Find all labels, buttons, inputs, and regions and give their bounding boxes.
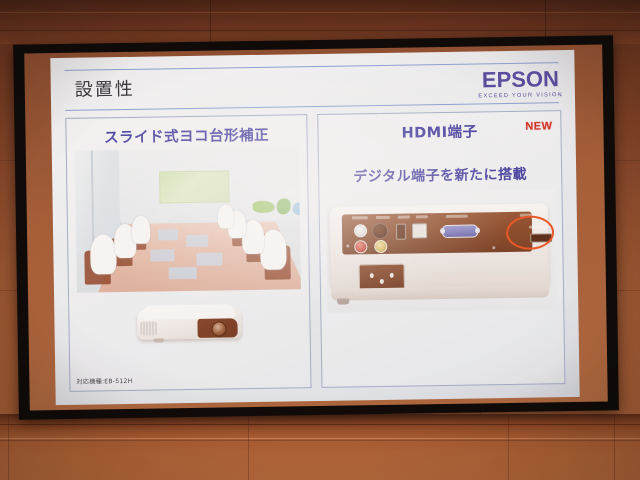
epson-wordmark: EPSON — [478, 68, 563, 91]
panel-hdmi-terminal: HDMI端子 NEW デジタル端子を新たに搭載 — [317, 110, 565, 388]
epson-logo: EPSON EXCEED YOUR VISION — [478, 68, 563, 99]
slide-title: 設置性 — [75, 75, 135, 102]
audio-jack-red — [354, 240, 367, 253]
model-caption: 対応機種:EB-512H — [76, 376, 132, 386]
lan-port — [412, 223, 427, 238]
projected-content-in-photo — [159, 170, 229, 203]
projector-front-product-photo — [131, 298, 248, 348]
new-badge: NEW — [525, 120, 552, 132]
vga-dsub-port — [442, 224, 478, 238]
header-rule-bottom — [65, 102, 559, 111]
audio-jack-white — [354, 224, 367, 237]
projection-screen-bezel: 設置性 EPSON EXCEED YOUR VISION スライド式ヨコ台形補正 — [13, 35, 619, 419]
projector-rear-panel-photo — [325, 189, 557, 313]
projected-slide: 設置性 EPSON EXCEED YOUR VISION スライド式ヨコ台形補正 — [50, 50, 579, 405]
hdmi-highlight-ellipse — [506, 215, 555, 250]
panel-slide-keystone: スライド式ヨコ台形補正 — [65, 114, 311, 392]
room-photo-scene: 設置性 EPSON EXCEED YOUR VISION スライド式ヨコ台形補正 — [0, 0, 640, 480]
panel-right-subheading: デジタル端子を新たに搭載 — [319, 163, 561, 187]
panel-left-heading: スライド式ヨコ台形補正 — [66, 123, 306, 148]
video-jack-yellow — [374, 240, 387, 253]
svideo-port — [372, 223, 388, 239]
wall-lower-paneling — [0, 414, 640, 480]
terminal-recess — [342, 212, 533, 255]
projection-screen-surface: 設置性 EPSON EXCEED YOUR VISION スライド式ヨコ台形補正 — [24, 44, 608, 410]
meeting-room-photo — [75, 147, 301, 293]
usb-port — [396, 224, 406, 240]
epson-tagline: EXCEED YOUR VISION — [478, 92, 563, 99]
